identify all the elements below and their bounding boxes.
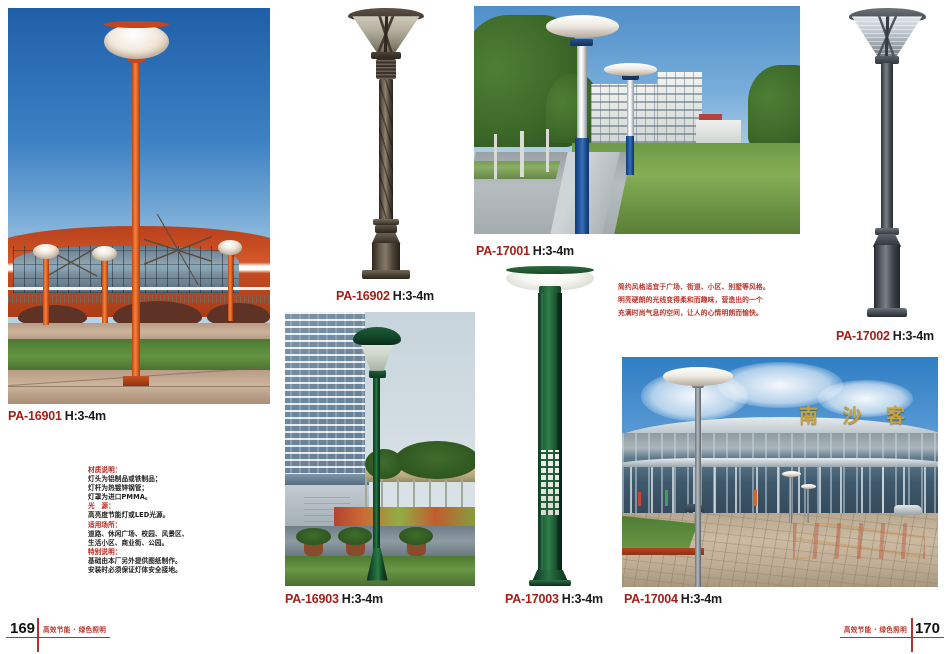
product-label-pa-17003: PA-17003H:3-4m: [505, 592, 603, 606]
pole-base-plate: [529, 580, 571, 586]
lantern-cone-frame: [852, 16, 922, 58]
tree-trunk: [546, 129, 550, 172]
spec-line: 基础由本厂另外提供图纸制作。: [88, 557, 268, 566]
product-photo-pa-16903: [285, 312, 475, 586]
pole-base-ring: [375, 225, 397, 234]
spec-application-heading: 适用场所：: [88, 521, 268, 530]
background-lamp-shade: [92, 246, 117, 261]
pergola-columns: [365, 479, 475, 509]
promo-line: 明亮硬朗的光线变得柔和而趣味，营造出的一个: [618, 294, 808, 307]
product-dimension: H:3-4m: [562, 592, 603, 606]
parked-car: [894, 505, 922, 514]
banner: [638, 492, 641, 507]
paving-joint: [8, 386, 270, 387]
footer-divider: [37, 618, 39, 652]
product-label-pa-16902: PA-16902H:3-4m: [336, 289, 434, 303]
pole-ribbed-section: [376, 59, 396, 79]
page-number-right: 170: [911, 622, 944, 638]
spec-special-heading: 特别说明：: [88, 548, 268, 557]
bare-tree: [144, 214, 212, 285]
pole-base-column: [874, 245, 900, 309]
background-lamp-shade: [801, 484, 817, 489]
background-lamp-pole: [43, 254, 49, 325]
spec-line: 灯罩为进口PMMA。: [88, 493, 268, 502]
bare-tree: [45, 230, 97, 293]
background-lamp-pole: [789, 474, 792, 522]
main-lamp-shaft: [577, 45, 587, 138]
secondary-lamp-disc-shade: [604, 63, 656, 76]
footer-slogan-right: 高效节能 · 绿色照明: [840, 625, 911, 638]
tree-row: [748, 65, 800, 147]
footer-right: 高效节能 · 绿色照明 170: [840, 616, 944, 638]
product-code: PA-17002: [836, 329, 890, 343]
spec-line: 灯头为铝制品或铁制品；: [88, 475, 268, 484]
specification-block: 材质说明： 灯头为铝制品或铁制品； 灯杆为热镀锌钢管； 灯罩为进口PMMA。 光…: [88, 466, 268, 575]
curb: [622, 548, 704, 555]
planter-shrub: [338, 527, 372, 545]
product-label-pa-17001: PA-17001H:3-4m: [476, 244, 574, 258]
footer-left: 169 高效节能 · 绿色照明: [6, 616, 110, 638]
tree-row: [546, 74, 598, 142]
main-lamp-pole: [373, 375, 380, 556]
main-lamp-pole: [132, 59, 140, 380]
spec-line: 高亮度节能灯或LED光源。: [88, 511, 268, 520]
background-lamp-shade: [218, 240, 243, 255]
product-code: PA-17003: [505, 592, 559, 606]
product-dimension: H:3-4m: [893, 329, 934, 343]
spec-line: 灯杆为热镀锌钢管；: [88, 484, 268, 493]
plaza-color-pattern: [793, 523, 926, 560]
terminal-canopy: [622, 458, 938, 467]
tree-trunk: [494, 134, 498, 180]
product-label-pa-17002: PA-17002H:3-4m: [836, 329, 934, 343]
background-lamp-pole: [228, 250, 233, 321]
red-signage: [699, 114, 722, 120]
main-lamp-shade-rim: [104, 21, 170, 28]
footer-divider: [911, 618, 913, 652]
pole-base-plate: [867, 308, 907, 318]
pole-edge-highlight: [538, 293, 563, 572]
pole-base-plate: [362, 270, 409, 279]
product-photo-pa-16901: [8, 8, 270, 404]
product-code: PA-17004: [624, 592, 678, 606]
main-lamp-disc-shade: [663, 367, 733, 385]
terminal-columns: [622, 467, 938, 515]
product-cutout-pa-16902: [330, 2, 442, 286]
banner: [665, 490, 669, 506]
footer-slogan-left: 高效节能 · 绿色照明: [39, 625, 110, 638]
promo-line: 充满时尚气息的空间，让人的心情明朗而愉快。: [618, 307, 808, 320]
spec-material-heading: 材质说明：: [88, 466, 268, 475]
background-trees: [395, 441, 475, 479]
product-dimension: H:3-4m: [342, 592, 383, 606]
background-lamp-pole: [102, 256, 107, 323]
product-code: PA-16903: [285, 592, 339, 606]
product-dimension: H:3-4m: [533, 244, 574, 258]
spec-line: 安装时必须保证灯体安全接地。: [88, 566, 268, 575]
main-lamp-base: [575, 138, 589, 234]
product-photo-pa-17004: 南 沙 客: [622, 357, 938, 587]
catalog-page: PA-16901H:3-4m PA-16902H:3-4m: [0, 0, 950, 654]
spec-line: 道路、休闲广场、校园、风景区、: [88, 530, 268, 539]
background-lamp-pole: [807, 486, 810, 523]
spec-line: 生活小区、商业街、公园。: [88, 539, 268, 548]
product-code: PA-16902: [336, 289, 390, 303]
decorative-grid-bars: [541, 450, 560, 515]
promo-line: 简约风格适宜于广场、街道、小区、别墅等风格。: [618, 281, 808, 294]
background-trees: [365, 449, 403, 479]
planter-shrub: [399, 527, 433, 545]
product-photo-pa-17001: [474, 6, 800, 234]
product-code: PA-17001: [476, 244, 530, 258]
flower-bed: [334, 507, 475, 526]
secondary-lamp-shaft: [627, 79, 634, 136]
product-cutout-pa-17003: [498, 262, 602, 586]
planter-shrub: [296, 528, 330, 544]
product-code: PA-16901: [8, 409, 62, 423]
product-label-pa-16901: PA-16901H:3-4m: [8, 409, 106, 423]
product-cutout-pa-17002: [832, 2, 942, 322]
main-lamp-hood: [353, 327, 401, 345]
terminal-sign: 南 沙 客: [799, 401, 914, 428]
pole-twist-pattern: [379, 79, 394, 221]
tree-trunk: [520, 131, 524, 177]
product-label-pa-16903: PA-16903H:3-4m: [285, 592, 383, 606]
background-lamp-shade: [782, 471, 801, 477]
page-number-left: 169: [6, 622, 39, 638]
promo-paragraph: 简约风格适宜于广场、街道、小区、别墅等风格。 明亮硬朗的光线变得柔和而趣味，营造…: [618, 281, 808, 320]
pole-shaft: [881, 63, 893, 229]
main-lamp-collar: [570, 39, 593, 46]
product-dimension: H:3-4m: [65, 409, 106, 423]
banner: [753, 490, 757, 506]
main-lamp-disc-shade: [546, 15, 619, 38]
secondary-lamp-base: [626, 136, 634, 175]
low-building: [696, 120, 742, 145]
pole-base-column: [372, 243, 400, 271]
main-lamp-pole: [695, 387, 701, 587]
main-lamp-base: [123, 376, 149, 386]
product-label-pa-17004: PA-17004H:3-4m: [624, 592, 722, 606]
lantern-cone-frame: [352, 16, 419, 53]
lantern-collar: [371, 52, 400, 59]
product-dimension: H:3-4m: [681, 592, 722, 606]
product-dimension: H:3-4m: [393, 289, 434, 303]
